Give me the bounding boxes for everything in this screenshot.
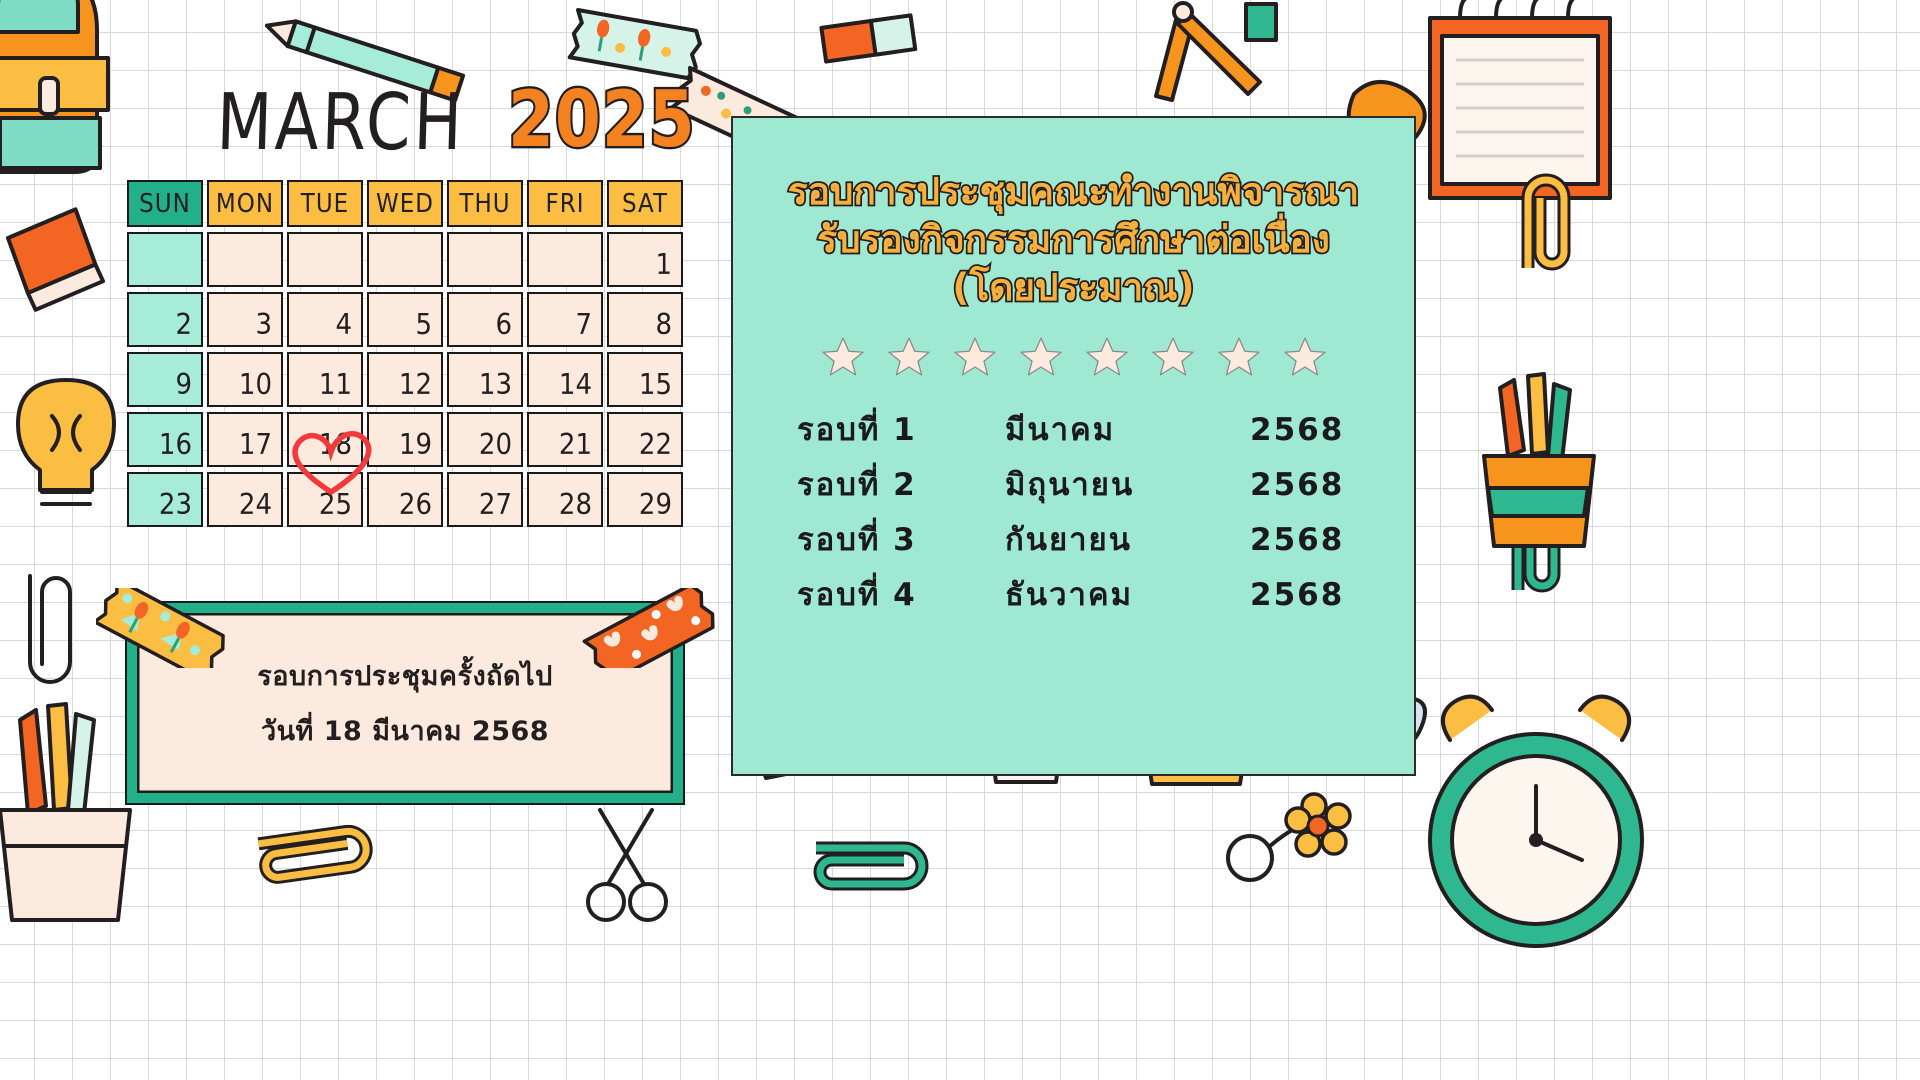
calendar-day-cell[interactable]: 17 (207, 412, 283, 467)
panel-title: รอบการประชุมคณะทำงานพิจารณา รับรองกิจกรร… (733, 168, 1414, 312)
calendar-week-row: 2 3 4 5 6 7 8 (127, 292, 683, 347)
round-label: รอบที่ 1 (797, 404, 1005, 454)
calendar-day-cell[interactable]: 8 (607, 292, 683, 347)
calendar-day-cell[interactable]: 29 (607, 472, 683, 527)
calendar-day-cell[interactable]: 6 (447, 292, 523, 347)
calendar-day-cell[interactable] (287, 232, 363, 287)
calendar-week-row: 16 17 18 19 20 21 22 (127, 412, 683, 467)
meeting-rounds-list: รอบที่ 1 มีนาคม 2568 รอบที่ 2 มิถุนายน 2… (733, 404, 1414, 619)
calendar-day-cell[interactable]: 27 (447, 472, 523, 527)
round-month: มิถุนายน (1005, 459, 1250, 509)
star-icon (1152, 336, 1194, 378)
calendar-day-cell[interactable]: 14 (527, 352, 603, 407)
meeting-round-row: รอบที่ 1 มีนาคม 2568 (797, 404, 1414, 454)
calendar-day-cell[interactable]: 15 (607, 352, 683, 407)
panel-title-line-2: รับรองกิจกรรมการศึกษาต่อเนื่อง (747, 216, 1400, 264)
washi-tape-icon (582, 588, 722, 668)
calendar-day-cell[interactable]: 2 (127, 292, 203, 347)
calendar-day-cell[interactable]: 4 (287, 292, 363, 347)
calendar-day-cell[interactable] (207, 232, 283, 287)
calendar-day-cell[interactable]: 21 (527, 412, 603, 467)
star-icon (1020, 336, 1062, 378)
info-panel: รอบการประชุมคณะทำงานพิจารณา รับรองกิจกรร… (731, 116, 1416, 776)
calendar-day-cell[interactable]: 7 (527, 292, 603, 347)
star-icon (954, 336, 996, 378)
calendar-week-row: 9 10 11 12 13 14 15 (127, 352, 683, 407)
calendar-week-row: 23 24 25 26 27 28 29 (127, 472, 683, 527)
round-label: รอบที่ 3 (797, 514, 1005, 564)
calendar-day-cell[interactable]: 16 (127, 412, 203, 467)
round-month: ธันวาคม (1005, 569, 1250, 619)
day-header-thu: THU (447, 180, 523, 227)
star-icon (1086, 336, 1128, 378)
star-icon (1284, 336, 1326, 378)
calendar-day-cell[interactable]: 25 (287, 472, 363, 527)
page-title-month: MARCH (215, 78, 466, 168)
meeting-round-row: รอบที่ 4 ธันวาคม 2568 (797, 569, 1414, 619)
round-year: 2568 (1250, 522, 1370, 558)
calendar-header-row: SUN MON TUE WED THU FRI SAT (127, 180, 683, 227)
round-month: กันยายน (1005, 514, 1250, 564)
calendar-day-cell[interactable]: 11 (287, 352, 363, 407)
star-icon (888, 336, 930, 378)
round-year: 2568 (1250, 412, 1370, 448)
calendar-day-cell[interactable]: 20 (447, 412, 523, 467)
round-label: รอบที่ 2 (797, 459, 1005, 509)
note-line-2: วันที่ 18 มีนาคม 2568 (261, 709, 549, 752)
round-label: รอบที่ 4 (797, 569, 1005, 619)
washi-tape-icon (96, 588, 236, 668)
calendar-day-cell[interactable]: 22 (607, 412, 683, 467)
round-year: 2568 (1250, 467, 1370, 503)
page-title-year: 2025 (508, 74, 696, 165)
note-line-1: รอบการประชุมครั้งถัดไป (257, 654, 552, 697)
calendar-day-cell[interactable]: 5 (367, 292, 443, 347)
calendar-day-cell[interactable] (367, 232, 443, 287)
calendar-day-cell[interactable]: 10 (207, 352, 283, 407)
calendar-day-cell[interactable]: 9 (127, 352, 203, 407)
meeting-round-row: รอบที่ 3 กันยายน 2568 (797, 514, 1414, 564)
meeting-round-row: รอบที่ 2 มิถุนายน 2568 (797, 459, 1414, 509)
calendar-day-cell[interactable] (127, 232, 203, 287)
calendar-day-cell[interactable]: 28 (527, 472, 603, 527)
star-icon (822, 336, 864, 378)
panel-title-line-3: (โดยประมาณ) (747, 264, 1400, 312)
calendar-week-row: 1 (127, 232, 683, 287)
star-icon (1218, 336, 1260, 378)
round-year: 2568 (1250, 577, 1370, 613)
day-header-mon: MON (207, 180, 283, 227)
calendar-day-cell[interactable]: 1 (607, 232, 683, 287)
day-header-sun: SUN (127, 180, 203, 227)
calendar-day-cell[interactable]: 26 (367, 472, 443, 527)
stars-divider (733, 336, 1414, 378)
panel-title-line-1: รอบการประชุมคณะทำงานพิจารณา (747, 168, 1400, 216)
calendar-day-cell[interactable]: 12 (367, 352, 443, 407)
calendar-day-cell[interactable]: 3 (207, 292, 283, 347)
day-header-fri: FRI (527, 180, 603, 227)
calendar-grid: SUN MON TUE WED THU FRI SAT 1 2 3 4 5 6 … (127, 180, 683, 532)
calendar-day-cell[interactable]: 19 (367, 412, 443, 467)
calendar-day-cell[interactable] (447, 232, 523, 287)
day-header-wed: WED (367, 180, 443, 227)
day-header-tue: TUE (287, 180, 363, 227)
calendar-day-cell-marked[interactable]: 18 (287, 412, 363, 467)
day-header-sat: SAT (607, 180, 683, 227)
calendar-day-cell[interactable]: 24 (207, 472, 283, 527)
round-month: มีนาคม (1005, 404, 1250, 454)
calendar-day-cell[interactable]: 13 (447, 352, 523, 407)
calendar-day-cell[interactable]: 23 (127, 472, 203, 527)
calendar-day-cell[interactable] (527, 232, 603, 287)
